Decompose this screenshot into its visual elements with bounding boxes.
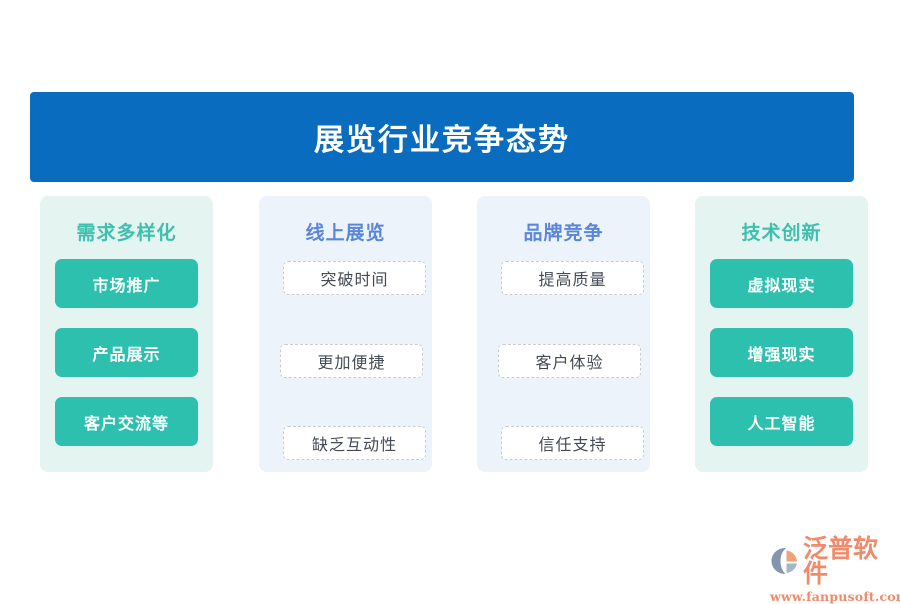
card-item[interactable]: 虚拟现实 [710,259,853,308]
diagram-canvas: 展览行业竞争态势 泛普软件 FANPU SOFTWARE 需求多样化 市场推广 … [0,0,900,600]
card-item[interactable]: 更加便捷 [280,344,423,378]
card-item[interactable]: 缺乏互动性 [283,426,426,460]
card-list-tech-innovation: 虚拟现实 增强现实 人工智能 [695,259,868,459]
column-header-brand-competition: 品牌竞争 [477,196,650,245]
card-item[interactable]: 信任支持 [501,426,644,460]
card-list-online-exhibition: 突破时间 更加便捷 缺乏互动性 [259,259,432,459]
page-title: 展览行业竞争态势 [314,115,570,159]
column-header-demand: 需求多样化 [40,196,213,245]
column-panel-online-exhibition: 线上展览 突破时间 更加便捷 缺乏互动性 [259,196,432,472]
column-panel-brand-competition: 品牌竞争 提高质量 客户体验 信任支持 [477,196,650,472]
card-item[interactable]: 市场推广 [55,259,198,308]
card-item[interactable]: 提高质量 [501,261,644,295]
card-item[interactable]: 增强现实 [710,328,853,377]
card-item[interactable]: 突破时间 [283,261,426,295]
card-item[interactable]: 产品展示 [55,328,198,377]
logo-url: www.fanpusoft.com [770,589,890,604]
column-panel-tech-innovation: 技术创新 虚拟现实 增强现实 人工智能 [695,196,868,472]
card-item[interactable]: 人工智能 [710,397,853,446]
comparison-columns: 需求多样化 市场推广 产品展示 客户交流等 线上展览 突破时间 更加便捷 缺乏互… [30,196,854,472]
card-item[interactable]: 客户体验 [498,344,641,378]
card-item[interactable]: 客户交流等 [55,397,198,446]
card-list-brand-competition: 提高质量 客户体验 信任支持 [477,259,650,459]
fanpu-logo-icon [770,546,800,576]
logo-row: 泛普软件 [770,536,890,586]
card-list-demand: 市场推广 产品展示 客户交流等 [40,259,213,459]
column-header-online-exhibition: 线上展览 [259,196,432,245]
title-banner: 展览行业竞争态势 [30,92,854,182]
brand-logo: 泛普软件 www.fanpusoft.com [770,536,890,588]
column-panel-demand: 需求多样化 市场推广 产品展示 客户交流等 [40,196,213,472]
column-header-tech-innovation: 技术创新 [695,196,868,245]
logo-wordmark: 泛普软件 [803,536,890,586]
